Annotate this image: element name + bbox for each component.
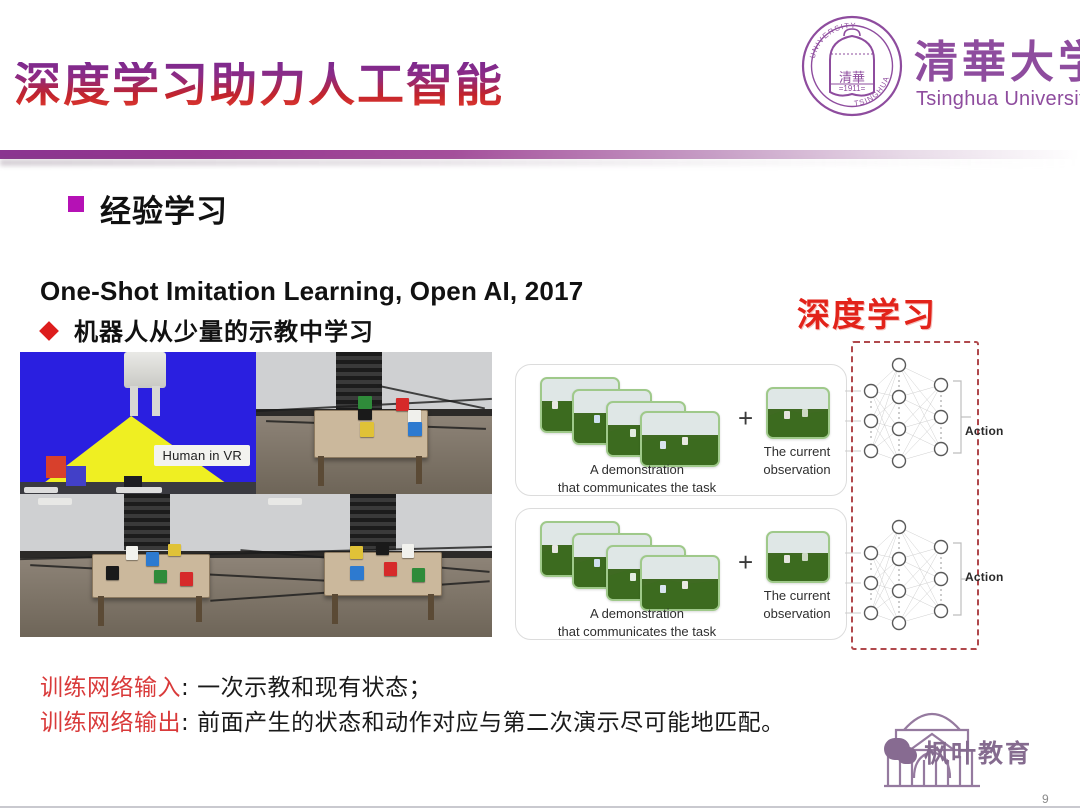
lab-shelf-1: [38, 498, 72, 505]
slide-root: 深度学习助力人工智能 深度学习助力人工智能 清華 =1911= UNIVERSI…: [0, 0, 1080, 810]
vr-cube-blue: [66, 466, 86, 486]
wechat-icon: [884, 738, 910, 760]
lab-shelf-2: [268, 498, 302, 505]
vr-shelf-mid: [116, 487, 162, 493]
demo-frame-8: [640, 555, 720, 611]
lab-rack-left: [124, 494, 170, 550]
obs-caption-line1-b: The current: [764, 588, 830, 603]
action-label-1: Action: [965, 424, 1004, 438]
paper-citation: One-Shot Imitation Learning, Open AI, 20…: [40, 276, 583, 307]
note-sep-2: :: [181, 710, 197, 736]
note-key-2: 训练网络输出: [40, 710, 181, 736]
demo-frame-4: [640, 411, 720, 467]
note-line-2: 训练网络输出: 前面产生的状态和动作对应与第二次演示尽可能地匹配。: [40, 703, 785, 737]
photo-quadrant-lab-top: [256, 352, 492, 494]
note-value-2: 前面产生的状态和动作对应与第二次演示尽可能地匹配。: [197, 710, 785, 736]
section-bullet-icon: [68, 196, 84, 212]
demo-caption-1: A demonstration that communicates the ta…: [542, 461, 732, 496]
observation-frame-2: [766, 531, 830, 583]
header-divider-shadow: [0, 159, 1080, 166]
page-number: 9: [1042, 792, 1049, 806]
note-value-1: 一次示教和现有状态；: [197, 675, 432, 701]
robot-photo-collage: Human in VR: [20, 352, 492, 637]
tsinghua-seal-icon: 清華 =1911= UNIVERSITY TSINGHUA: [800, 14, 904, 118]
lab-rack-right: [350, 494, 396, 550]
diamond-bullet-icon: [39, 321, 59, 341]
schematic-box-row-1: A demonstration that communicates the ta…: [515, 364, 847, 496]
photo-quadrant-lab-bottom: [20, 494, 492, 637]
action-label-2: Action: [965, 570, 1004, 584]
schematic-box-row-2: A demonstration that communicates the ta…: [515, 508, 847, 640]
note-sep-1: :: [181, 675, 197, 701]
section-heading: 经验学习: [100, 186, 228, 231]
observation-caption-2: The current observation: [760, 587, 834, 622]
demo-caption-line1: A demonstration: [590, 462, 684, 477]
observation-caption-1: The current observation: [760, 443, 834, 478]
note-key-1: 训练网络输入: [40, 675, 181, 701]
observation-frame-1: [766, 387, 830, 439]
footer-rule: [0, 806, 1080, 808]
obs-caption-line1: The current: [764, 444, 830, 459]
watermark-logo: 枫叶教育: [880, 694, 1070, 800]
plus-sign-1: +: [738, 403, 753, 434]
svg-text:=1911=: =1911=: [839, 84, 866, 93]
robot-gripper-body: [124, 352, 166, 388]
logo-name-en: Tsinghua University: [916, 88, 1080, 111]
page-title: 深度学习助力人工智能: [14, 62, 504, 109]
demo-caption-line2: that communicates the task: [558, 480, 716, 495]
demo-caption-2: A demonstration that communicates the ta…: [542, 605, 732, 640]
header-divider-bar: [0, 150, 1080, 159]
plus-sign-2: +: [738, 547, 753, 578]
lab-wall-2: [20, 494, 492, 551]
robot-gripper-finger-right: [152, 386, 160, 416]
vr-cube-red: [46, 456, 66, 478]
deep-learning-label: 深度学习: [797, 288, 937, 336]
obs-caption-line2: observation: [763, 462, 830, 477]
photo-quadrant-vr: Human in VR: [20, 352, 256, 494]
watermark-text: 枫叶教育: [924, 734, 1032, 770]
paper-point: 机器人从少量的示教中学习: [74, 312, 374, 347]
logo-name-cn: 清華大学: [914, 26, 1080, 90]
deep-learning-dashed-box: [851, 341, 979, 650]
obs-caption-line2-b: observation: [763, 606, 830, 621]
vr-shelf-left: [24, 487, 58, 493]
robot-gripper-finger-left: [130, 386, 138, 416]
demo-caption-line2-b: that communicates the task: [558, 624, 716, 639]
demo-caption-line1-b: A demonstration: [590, 606, 684, 621]
note-line-1: 训练网络输入: 一次示教和现有状态；: [40, 668, 432, 702]
human-in-vr-tag: Human in VR: [154, 445, 250, 466]
tsinghua-logo: 清華 =1911= UNIVERSITY TSINGHUA 清華大学 Tsing…: [796, 8, 1058, 126]
